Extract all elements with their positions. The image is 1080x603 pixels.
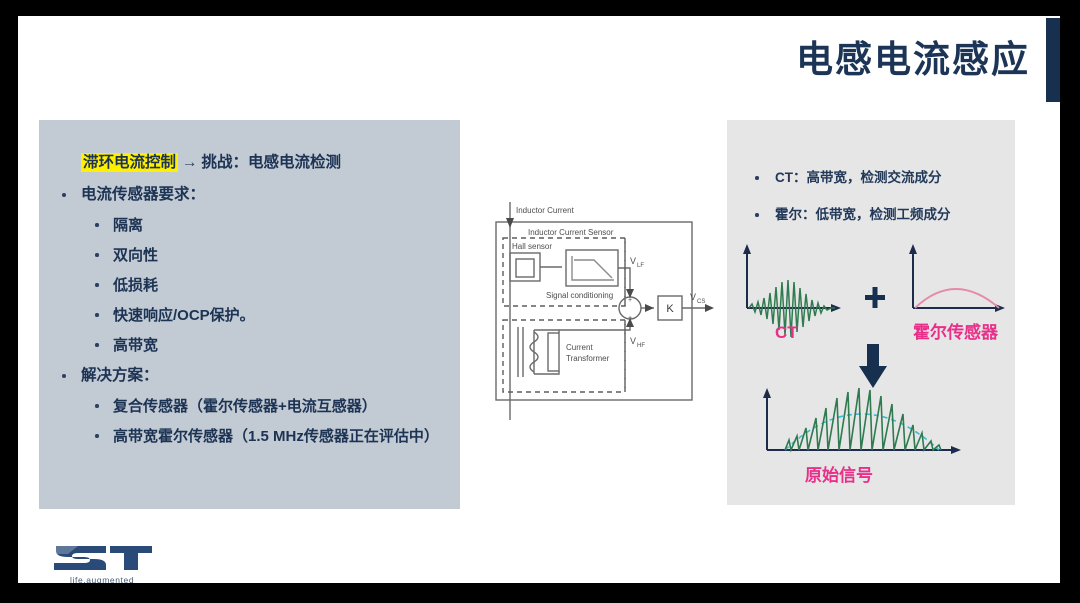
right-content-panel: CT：高带宽，检测交流成分 霍尔：低带宽，检测工频成分 CT <box>727 120 1015 505</box>
label-vhf-sub: HF <box>637 343 645 349</box>
bullet-label: 解决方案： <box>81 365 450 387</box>
label-vlf: V <box>630 256 636 266</box>
waveform-svg: CT 霍尔传感器 <box>727 238 1015 503</box>
label-current-transformer-2: Transformer <box>566 354 610 363</box>
label-inductor-current: Inductor Current <box>516 206 575 215</box>
sub-bullet-list-requirements: 隔离 双向性 低损耗 快速响应/OCP保护。 高带宽 <box>81 215 450 356</box>
sub-bullet-list-solutions: 复合传感器（霍尔传感器+电流互感器） 高带宽霍尔传感器（1.5 MHz传感器正在… <box>81 396 450 447</box>
hall-waveform-group: 霍尔传感器 <box>909 244 1005 342</box>
list-item: 快速响应/OCP保护。 <box>81 305 450 326</box>
st-logo: life.augmented <box>48 539 188 583</box>
list-item: 霍尔：低带宽，检测工频成分 <box>745 205 1007 224</box>
list-item: 双向性 <box>81 245 450 266</box>
list-item: 低损耗 <box>81 275 450 296</box>
left-content-panel: 滞环电流控制→挑战：电感电流检测 电流传感器要求： 隔离 双向性 低损耗 快速响… <box>39 120 460 509</box>
result-waveform-label: 原始信号 <box>805 465 873 485</box>
sum-plus-bottom: + <box>628 315 632 322</box>
bullet-group-solutions: 解决方案： 复合传感器（霍尔传感器+电流互感器） 高带宽霍尔传感器（1.5 MH… <box>51 365 450 447</box>
hall-waveform-label: 霍尔传感器 <box>913 322 999 342</box>
down-arrow-icon <box>859 344 887 388</box>
left-panel-inner: 滞环电流控制→挑战：电感电流检测 电流传感器要求： 隔离 双向性 低损耗 快速响… <box>51 150 450 447</box>
bullet-label: 电流传感器要求： <box>81 184 450 206</box>
label-inductor-current-sensor: Inductor Current Sensor <box>528 228 614 237</box>
st-logo-tagline: life.augmented <box>70 575 134 583</box>
result-waveform-group: 原始信号 <box>763 388 961 486</box>
label-vcs-sub: CS <box>697 299 705 305</box>
label-vhf: V <box>630 336 636 346</box>
sum-plus-top: + <box>628 297 632 304</box>
label-current-transformer-1: Current <box>566 343 593 352</box>
waveform-illustration: CT 霍尔传感器 <box>727 238 1015 503</box>
left-bullet-list: 电流传感器要求： 隔离 双向性 低损耗 快速响应/OCP保护。 高带宽 解决方案… <box>51 184 450 447</box>
headline-arrow-icon: → <box>178 154 202 171</box>
label-vcs: V <box>690 292 696 302</box>
right-bullet-list: CT：高带宽，检测交流成分 霍尔：低带宽，检测工频成分 <box>745 150 1007 224</box>
headline-rest: 挑战：电感电流检测 <box>202 154 342 171</box>
st-logo-mark-icon <box>48 539 158 573</box>
title-accent-bar <box>1046 18 1060 102</box>
circuit-svg: + + Inductor Current Inductor Current Se… <box>490 202 720 420</box>
label-hall-sensor: Hall sensor <box>512 242 552 251</box>
ct-waveform-group: CT <box>743 244 841 342</box>
plus-symbol-group <box>865 287 885 308</box>
list-item: 隔离 <box>81 215 450 236</box>
headline-highlight: 滞环电流控制 <box>81 153 178 172</box>
title-area: 电感电流感应 <box>718 24 1060 112</box>
inductor-current-sensor-diagram: + + Inductor Current Inductor Current Se… <box>490 202 720 420</box>
list-item: 高带宽霍尔传感器（1.5 MHz传感器正在评估中） <box>81 426 450 447</box>
page-title: 电感电流感应 <box>796 36 1030 84</box>
list-item: 高带宽 <box>81 335 450 356</box>
list-item: CT：高带宽，检测交流成分 <box>745 168 1007 187</box>
bullet-group-requirements: 电流传感器要求： 隔离 双向性 低损耗 快速响应/OCP保护。 高带宽 <box>51 184 450 356</box>
label-gain-k: K <box>666 303 674 315</box>
label-vlf-sub: LF <box>637 263 644 269</box>
label-signal-conditioning: Signal conditioning <box>546 291 613 300</box>
list-item: 复合传感器（霍尔传感器+电流互感器） <box>81 396 450 417</box>
slide-canvas: 电感电流感应 滞环电流控制→挑战：电感电流检测 电流传感器要求： 隔离 双向性 … <box>18 16 1060 583</box>
headline-row: 滞环电流控制→挑战：电感电流检测 <box>81 150 450 172</box>
ct-waveform-label: CT <box>775 323 798 342</box>
